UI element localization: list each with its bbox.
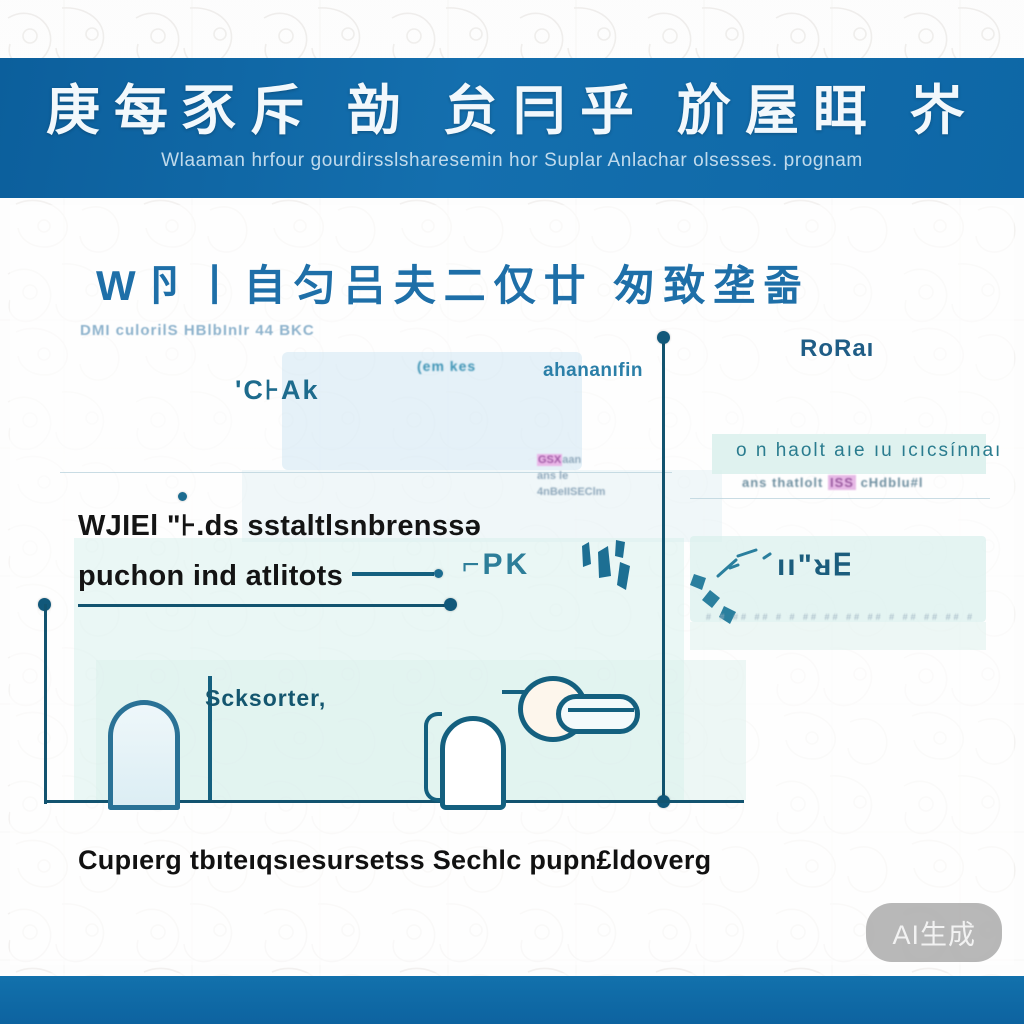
micro-text-highlight: GSX (537, 454, 562, 466)
axis-dot-right-upper (444, 598, 457, 611)
micro-text-block: GSXaan ans le 4nBeIISEClm (537, 452, 605, 500)
poster-canvas: 庚每豕斥 勏 贠冃乎 斺屋眲 岕 Wlaaman hrfour gourdirs… (0, 0, 1024, 1024)
panel-right-strip (690, 622, 986, 650)
ai-generated-badge: AI生成 (866, 903, 1002, 962)
label-ahananifin: ahananıfin (543, 360, 643, 382)
right-card-sub-prefix: ans thatlolt (742, 475, 823, 490)
axis-vertical-left (44, 604, 47, 804)
pill-shape (556, 694, 640, 734)
axis-endpoint-dot-top (657, 331, 670, 344)
bar-shape-1 (108, 700, 180, 810)
label-crak: 'C⊦Ak (235, 375, 320, 406)
page-subtitle: Wlaaman hrfour gourdirsslsharesemin hor … (161, 150, 863, 172)
label-emkes: (em kes (417, 358, 476, 374)
right-card-subtext: ans thatlolt ISS cHdblu#l (742, 475, 923, 490)
page-title: 庚每豕斥 勏 贠冃乎 斺屋眲 岕 (46, 84, 978, 138)
label-rorai: RoRaı (800, 335, 874, 363)
section-title: W卪丨自匀吕夫二仅廿 匆致垄졺 (96, 252, 810, 313)
axis-horizontal-upper (78, 604, 450, 607)
label-scksorter: Scksorter, (205, 685, 326, 712)
stmt-anchor-dot (178, 492, 187, 501)
bar-shape-2 (440, 716, 506, 810)
label-pk: ⌐PK (462, 548, 530, 582)
connector-dot (434, 569, 443, 578)
label-e3: ∃ʁ"ıı (775, 548, 852, 583)
bar-shape-2-hook (424, 712, 442, 802)
statement-line-2: puchon ind atlitots (78, 560, 343, 593)
bottom-caption: Cupıerg tbıteıqsıesursetss Sechlc pupn£l… (78, 845, 711, 876)
right-card-sub-suffix: cHdblu#l (861, 475, 924, 490)
micro-text-line-2: ans le (537, 468, 605, 484)
statement-line-1: WJIEl ʺ⊦.ds sstaltlsnbrenssə (78, 508, 481, 543)
pill-tick-a (502, 690, 528, 694)
rule-mid (690, 498, 990, 499)
axis-vertical-main (662, 338, 665, 804)
section-subtitle: DMI culorilS HBlbInIr 44 BKC (80, 322, 315, 339)
right-card-sub-highlight: ISS (828, 475, 856, 490)
label-microtext: # # ## ## # # ## ## ## ## # ## ## ## # (706, 612, 975, 622)
footer-band (0, 976, 1024, 1024)
header-band: 庚每豕斥 勏 贠冃乎 斺屋眲 岕 Wlaaman hrfour gourdirs… (0, 58, 1024, 198)
right-card-heading: o n haolt aıe ıu ıcıcsínnaı (736, 440, 1002, 462)
panel-bottom-band (96, 660, 746, 800)
connector-tick (352, 572, 434, 576)
micro-text-line-3: 4nBeIISEClm (537, 484, 605, 500)
pill-tick-b (568, 708, 634, 712)
micro-text-line-1: aan (562, 454, 581, 466)
